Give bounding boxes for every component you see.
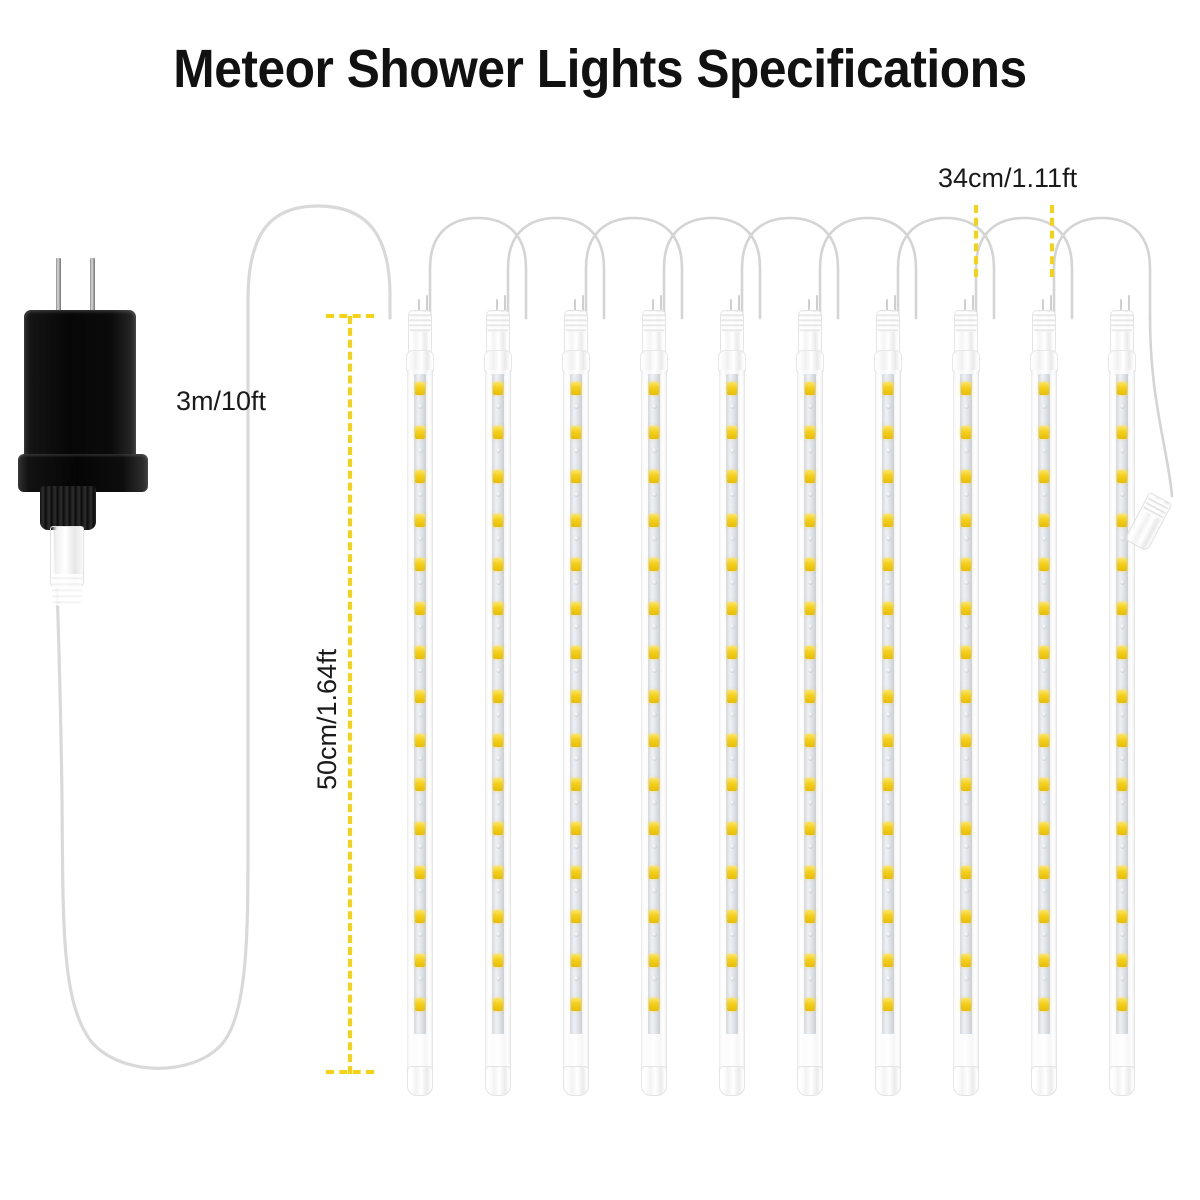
led-chip: [493, 910, 503, 923]
led-chip: [571, 426, 581, 439]
tube-cap-ribs: [1033, 312, 1055, 332]
strip-solder-dot: [886, 624, 891, 629]
strip-solder-dot: [1042, 756, 1047, 761]
led-chip: [415, 778, 425, 791]
strip-solder-dot: [496, 668, 501, 673]
led-chip: [1117, 646, 1127, 659]
strip-solder-dot: [886, 668, 891, 673]
led-tube-icon: [795, 310, 825, 1080]
led-chip: [1039, 470, 1049, 483]
strip-solder-dot: [964, 932, 969, 937]
strip-solder-dot: [964, 580, 969, 585]
led-chip: [649, 382, 659, 395]
led-chip: [805, 602, 815, 615]
strip-solder-dot: [808, 844, 813, 849]
strip-solder-dot: [652, 976, 657, 981]
strip-solder-dot: [574, 448, 579, 453]
led-chip: [493, 558, 503, 571]
led-chip: [493, 998, 503, 1011]
led-chip: [571, 778, 581, 791]
led-tube-icon: [483, 310, 513, 1080]
strip-solder-dot: [886, 844, 891, 849]
strip-solder-dot: [1120, 976, 1125, 981]
strip-solder-dot: [574, 976, 579, 981]
strip-solder-dot: [808, 536, 813, 541]
strip-solder-dot: [496, 800, 501, 805]
strip-solder-dot: [574, 536, 579, 541]
strip-solder-dot: [652, 624, 657, 629]
led-chip: [1039, 910, 1049, 923]
led-chip: [571, 646, 581, 659]
strip-solder-dot: [418, 536, 423, 541]
led-chip: [493, 734, 503, 747]
led-strip: [570, 374, 582, 1034]
strip-solder-dot: [886, 712, 891, 717]
led-chip: [493, 470, 503, 483]
strip-solder-dot: [730, 536, 735, 541]
strip-solder-dot: [808, 976, 813, 981]
tube-spacing-line-right: [1050, 205, 1054, 277]
led-chip: [415, 954, 425, 967]
strip-solder-dot: [496, 932, 501, 937]
strip-solder-dot: [574, 844, 579, 849]
strip-solder-dot: [886, 580, 891, 585]
led-chip: [415, 426, 425, 439]
strip-solder-dot: [496, 448, 501, 453]
led-chip: [571, 822, 581, 835]
strip-solder-dot: [808, 712, 813, 717]
led-chip: [571, 910, 581, 923]
strip-solder-dot: [886, 800, 891, 805]
led-strip: [726, 374, 738, 1034]
led-chip: [883, 910, 893, 923]
strip-solder-dot: [496, 492, 501, 497]
led-chip: [1117, 382, 1127, 395]
strip-solder-dot: [652, 448, 657, 453]
strip-solder-dot: [418, 976, 423, 981]
tube-bottom-cap: [485, 1066, 511, 1096]
strip-solder-dot: [418, 844, 423, 849]
strip-solder-dot: [808, 448, 813, 453]
strip-solder-dot: [1042, 712, 1047, 717]
strip-solder-dot: [418, 756, 423, 761]
led-chip: [571, 558, 581, 571]
led-chip: [961, 514, 971, 527]
led-chip: [571, 514, 581, 527]
led-chip: [883, 602, 893, 615]
specification-diagram: Meteor Shower Lights Specifications: [0, 0, 1200, 1200]
strip-solder-dot: [496, 404, 501, 409]
strip-solder-dot: [418, 624, 423, 629]
led-chip: [415, 558, 425, 571]
led-chip: [727, 866, 737, 879]
strip-solder-dot: [730, 668, 735, 673]
led-chip: [1117, 998, 1127, 1011]
led-chip: [1039, 558, 1049, 571]
strip-solder-dot: [574, 580, 579, 585]
tube-bottom-cap: [953, 1066, 979, 1096]
led-chip: [571, 734, 581, 747]
plug-prong-left: [56, 258, 61, 313]
led-chip: [727, 998, 737, 1011]
strip-solder-dot: [964, 712, 969, 717]
led-chip: [415, 734, 425, 747]
strip-solder-dot: [730, 492, 735, 497]
led-chip: [1117, 910, 1127, 923]
led-tube-icon: [639, 310, 669, 1080]
led-chip: [1039, 998, 1049, 1011]
strip-solder-dot: [1120, 932, 1125, 937]
cord-length-label: 3m/10ft: [176, 386, 266, 417]
led-tube-icon: [951, 310, 981, 1080]
led-chip: [961, 382, 971, 395]
strip-solder-dot: [574, 800, 579, 805]
tube-bottom-cap: [719, 1066, 745, 1096]
led-chip: [727, 778, 737, 791]
strip-solder-dot: [1042, 976, 1047, 981]
tube-cap-ribs: [721, 312, 743, 332]
power-adapter-icon: [18, 258, 158, 618]
led-chip: [649, 646, 659, 659]
strip-solder-dot: [1042, 536, 1047, 541]
led-chip: [1039, 690, 1049, 703]
strip-solder-dot: [1120, 580, 1125, 585]
plug-prong-right: [90, 258, 95, 313]
led-chip: [1039, 426, 1049, 439]
strip-solder-dot: [418, 668, 423, 673]
led-chip: [415, 910, 425, 923]
tube-cap-ribs: [877, 312, 899, 332]
led-chip: [961, 822, 971, 835]
tube-length-measure-line: [348, 316, 352, 1074]
led-chip: [805, 470, 815, 483]
led-chip: [1117, 602, 1127, 615]
led-chip: [571, 470, 581, 483]
strip-solder-dot: [1042, 668, 1047, 673]
led-chip: [805, 910, 815, 923]
led-chip: [1039, 514, 1049, 527]
strip-solder-dot: [1120, 492, 1125, 497]
strip-solder-dot: [730, 624, 735, 629]
strip-solder-dot: [652, 932, 657, 937]
led-chip: [649, 470, 659, 483]
led-chip: [649, 558, 659, 571]
led-chip: [493, 646, 503, 659]
strip-solder-dot: [730, 844, 735, 849]
strip-solder-dot: [1120, 800, 1125, 805]
led-chip: [1117, 470, 1127, 483]
strip-solder-dot: [964, 844, 969, 849]
led-strip: [1038, 374, 1050, 1034]
led-chip: [571, 602, 581, 615]
strip-solder-dot: [1042, 888, 1047, 893]
led-chip: [493, 954, 503, 967]
led-chip: [961, 426, 971, 439]
led-chip: [649, 778, 659, 791]
led-chip: [649, 998, 659, 1011]
strip-solder-dot: [496, 756, 501, 761]
led-chip: [727, 734, 737, 747]
strip-solder-dot: [1042, 580, 1047, 585]
led-strip: [1116, 374, 1128, 1034]
led-chip: [727, 690, 737, 703]
led-chip: [883, 866, 893, 879]
strip-solder-dot: [652, 580, 657, 585]
strip-solder-dot: [808, 404, 813, 409]
led-chip: [1117, 734, 1127, 747]
led-chip: [1039, 822, 1049, 835]
led-chip: [493, 426, 503, 439]
led-chip: [649, 426, 659, 439]
led-tube-icon: [561, 310, 591, 1080]
strip-solder-dot: [808, 580, 813, 585]
tube-length-tick-bottom: [326, 1070, 374, 1074]
led-chip: [805, 734, 815, 747]
led-chip: [493, 822, 503, 835]
led-chip: [415, 866, 425, 879]
led-chip: [415, 690, 425, 703]
led-chip: [1117, 558, 1127, 571]
strip-solder-dot: [574, 756, 579, 761]
page-title: Meteor Shower Lights Specifications: [48, 38, 1152, 100]
led-chip: [571, 866, 581, 879]
led-chip: [649, 954, 659, 967]
tube-spacing-line-left: [974, 205, 978, 277]
strip-solder-dot: [1042, 492, 1047, 497]
strip-solder-dot: [1120, 624, 1125, 629]
led-chip: [805, 866, 815, 879]
led-chip: [727, 558, 737, 571]
strip-solder-dot: [808, 932, 813, 937]
strip-solder-dot: [730, 580, 735, 585]
strip-solder-dot: [1120, 844, 1125, 849]
strip-solder-dot: [1120, 448, 1125, 453]
led-chip: [883, 778, 893, 791]
strip-solder-dot: [1042, 844, 1047, 849]
strip-solder-dot: [964, 404, 969, 409]
strip-solder-dot: [418, 888, 423, 893]
led-chip: [649, 910, 659, 923]
led-chip: [415, 602, 425, 615]
strip-solder-dot: [964, 888, 969, 893]
adapter-collar: [40, 486, 96, 530]
strip-solder-dot: [808, 800, 813, 805]
led-chip: [1117, 514, 1127, 527]
led-chip: [1039, 954, 1049, 967]
led-tube-icon: [873, 310, 903, 1080]
led-chip: [415, 470, 425, 483]
led-chip: [1117, 426, 1127, 439]
adapter-plug-strain-relief: [52, 574, 82, 606]
strip-solder-dot: [808, 756, 813, 761]
strip-solder-dot: [1042, 448, 1047, 453]
led-chip: [727, 470, 737, 483]
led-chip: [961, 470, 971, 483]
led-chip: [727, 382, 737, 395]
led-strip: [648, 374, 660, 1034]
led-chip: [727, 514, 737, 527]
strip-solder-dot: [652, 800, 657, 805]
led-chip: [883, 646, 893, 659]
led-chip: [883, 426, 893, 439]
tube-cap-ribs: [955, 312, 977, 332]
tube-cap-ribs: [799, 312, 821, 332]
strip-solder-dot: [1120, 668, 1125, 673]
led-chip: [961, 646, 971, 659]
led-tube-icon: [1107, 310, 1137, 1080]
strip-solder-dot: [886, 492, 891, 497]
led-chip: [805, 382, 815, 395]
strip-solder-dot: [496, 536, 501, 541]
strip-solder-dot: [808, 624, 813, 629]
led-chip: [961, 602, 971, 615]
strip-solder-dot: [418, 404, 423, 409]
led-tube-icon: [405, 310, 435, 1080]
led-chip: [1117, 954, 1127, 967]
led-chip: [961, 954, 971, 967]
led-chip: [883, 822, 893, 835]
led-chip: [883, 558, 893, 571]
strip-solder-dot: [730, 712, 735, 717]
tube-cap-ribs: [1111, 312, 1133, 332]
tube-bottom-cap: [797, 1066, 823, 1096]
led-tube-icon: [717, 310, 747, 1080]
led-chip: [961, 998, 971, 1011]
led-chip: [961, 910, 971, 923]
led-chip: [883, 470, 893, 483]
strip-solder-dot: [652, 668, 657, 673]
led-chip: [883, 998, 893, 1011]
strip-solder-dot: [808, 888, 813, 893]
led-chip: [961, 778, 971, 791]
led-chip: [805, 646, 815, 659]
led-chip: [1039, 646, 1049, 659]
strip-solder-dot: [1042, 404, 1047, 409]
led-chip: [649, 690, 659, 703]
strip-solder-dot: [574, 932, 579, 937]
led-chip: [805, 514, 815, 527]
strip-solder-dot: [496, 624, 501, 629]
strip-solder-dot: [418, 712, 423, 717]
led-chip: [727, 646, 737, 659]
strip-solder-dot: [730, 888, 735, 893]
led-chip: [1117, 866, 1127, 879]
strip-solder-dot: [886, 888, 891, 893]
led-chip: [415, 514, 425, 527]
led-chip: [805, 558, 815, 571]
led-chip: [1039, 866, 1049, 879]
led-chip: [961, 558, 971, 571]
tube-cap-ribs: [409, 312, 431, 332]
led-strip: [414, 374, 426, 1034]
strip-solder-dot: [808, 668, 813, 673]
led-chip: [649, 734, 659, 747]
strip-solder-dot: [730, 976, 735, 981]
led-chip: [1039, 778, 1049, 791]
strip-solder-dot: [886, 536, 891, 541]
led-chip: [805, 954, 815, 967]
tube-bottom-cap: [641, 1066, 667, 1096]
led-chip: [883, 382, 893, 395]
led-chip: [493, 778, 503, 791]
tube-spacing-label: 34cm/1.11ft: [938, 163, 1077, 194]
led-chip: [415, 382, 425, 395]
tube-bottom-cap: [407, 1066, 433, 1096]
strip-solder-dot: [964, 492, 969, 497]
strip-solder-dot: [964, 976, 969, 981]
led-strip: [882, 374, 894, 1034]
strip-solder-dot: [652, 536, 657, 541]
strip-solder-dot: [964, 800, 969, 805]
led-chip: [649, 602, 659, 615]
led-chip: [805, 822, 815, 835]
led-tube-icon: [1029, 310, 1059, 1080]
led-chip: [1039, 602, 1049, 615]
strip-solder-dot: [574, 888, 579, 893]
led-chip: [415, 646, 425, 659]
led-chip: [727, 910, 737, 923]
strip-solder-dot: [1120, 404, 1125, 409]
strip-solder-dot: [808, 492, 813, 497]
strip-solder-dot: [418, 492, 423, 497]
strip-solder-dot: [418, 448, 423, 453]
strip-solder-dot: [1042, 932, 1047, 937]
led-chip: [493, 382, 503, 395]
strip-solder-dot: [964, 624, 969, 629]
strip-solder-dot: [886, 448, 891, 453]
led-chip: [1117, 822, 1127, 835]
strip-solder-dot: [886, 404, 891, 409]
strip-solder-dot: [886, 932, 891, 937]
tube-cap-ribs: [565, 312, 587, 332]
strip-solder-dot: [652, 712, 657, 717]
strip-solder-dot: [730, 756, 735, 761]
led-chip: [649, 514, 659, 527]
led-chip: [961, 690, 971, 703]
led-chip: [493, 690, 503, 703]
led-chip: [571, 998, 581, 1011]
strip-solder-dot: [652, 888, 657, 893]
strip-solder-dot: [730, 448, 735, 453]
strip-solder-dot: [1120, 888, 1125, 893]
strip-solder-dot: [574, 492, 579, 497]
strip-solder-dot: [1120, 712, 1125, 717]
led-strip: [960, 374, 972, 1034]
strip-solder-dot: [730, 800, 735, 805]
led-chip: [961, 866, 971, 879]
strip-solder-dot: [886, 976, 891, 981]
strip-solder-dot: [964, 756, 969, 761]
strip-solder-dot: [574, 404, 579, 409]
led-chip: [571, 954, 581, 967]
led-chip: [493, 602, 503, 615]
led-chip: [883, 954, 893, 967]
led-chip: [415, 998, 425, 1011]
strip-solder-dot: [886, 756, 891, 761]
strip-solder-dot: [496, 712, 501, 717]
led-chip: [727, 602, 737, 615]
led-chip: [883, 690, 893, 703]
strip-solder-dot: [418, 800, 423, 805]
tube-cap-ribs: [487, 312, 509, 332]
led-chip: [727, 426, 737, 439]
led-strip: [492, 374, 504, 1034]
led-chip: [571, 690, 581, 703]
strip-solder-dot: [964, 448, 969, 453]
strip-solder-dot: [652, 756, 657, 761]
strip-solder-dot: [1042, 800, 1047, 805]
led-chip: [493, 866, 503, 879]
